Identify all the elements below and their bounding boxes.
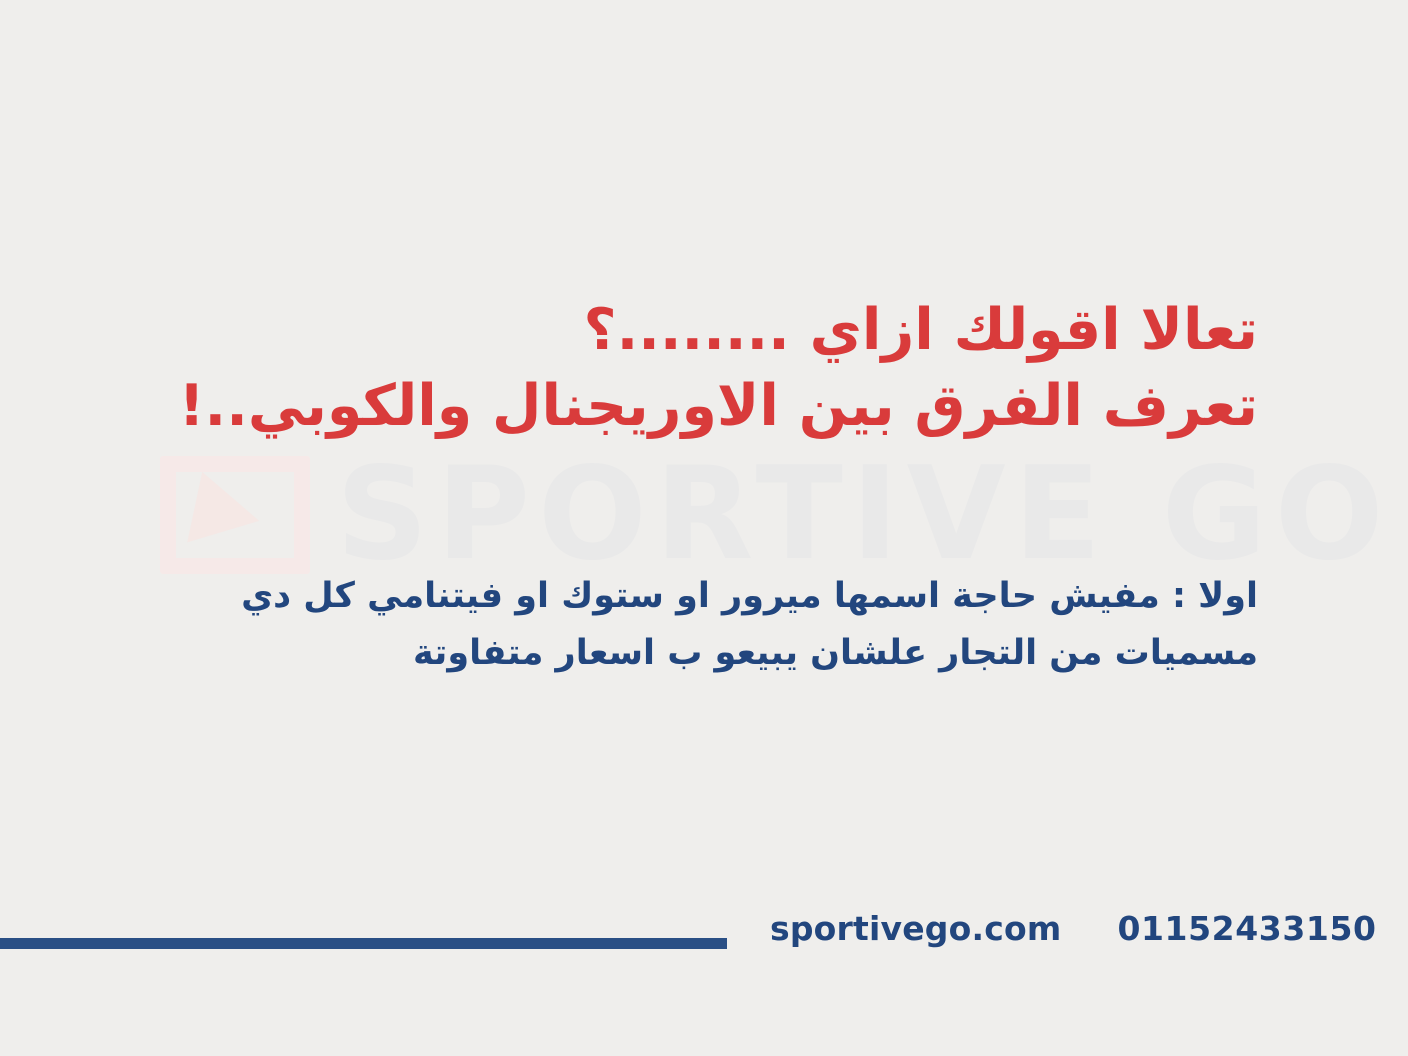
headline: تعالا اقولك ازاي ........؟ تعرف الفرق بي… xyxy=(148,292,1258,445)
sportivego-logo-mark-icon xyxy=(160,456,310,574)
logo-frame-shape xyxy=(160,456,310,574)
phone-number[interactable]: 01152433150 xyxy=(1117,912,1376,945)
headline-line-1: تعالا اقولك ازاي ........؟ xyxy=(148,292,1258,368)
footer-divider xyxy=(0,938,727,949)
footer-contacts: sportivego.com 01152433150 xyxy=(770,912,1377,945)
promo-card: SPORTIVE GO تعالا اقولك ازاي ........؟ ت… xyxy=(0,0,1408,1056)
watermark-wordmark: SPORTIVE GO xyxy=(336,451,1392,579)
website-link[interactable]: sportivego.com xyxy=(770,912,1061,945)
headline-line-2: تعرف الفرق بين الاوريجنال والكوبي..! xyxy=(148,368,1258,444)
body-copy: اولا : مفيش حاجة اسمها ميرور او ستوك او … xyxy=(148,568,1258,681)
logo-arrow-shape xyxy=(187,472,267,556)
body-line-2: مسميات من التجار علشان يبيعو ب اسعار متف… xyxy=(148,625,1258,682)
body-line-1: اولا : مفيش حاجة اسمها ميرور او ستوك او … xyxy=(148,568,1258,625)
